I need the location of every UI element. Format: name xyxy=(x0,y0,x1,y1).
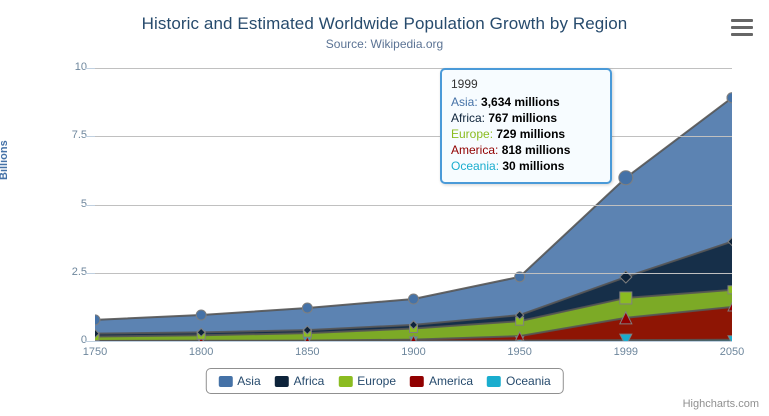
hamburger-bar-3 xyxy=(731,33,753,36)
gridline xyxy=(95,205,732,206)
legend-swatch-asia xyxy=(218,376,232,387)
tooltip-series-value: 30 millions xyxy=(502,159,564,173)
tooltip-series-value: 3,634 millions xyxy=(481,95,560,109)
data-point-europe[interactable] xyxy=(728,286,732,294)
legend-item-oceania[interactable]: Oceania xyxy=(487,374,551,388)
x-axis-tick-label: 1950 xyxy=(485,346,555,358)
credits-label[interactable]: Highcharts.com xyxy=(683,398,759,410)
x-axis-tick-label: 1800 xyxy=(166,346,236,358)
tooltip-row: Oceania: 30 millions xyxy=(451,158,601,174)
tooltip: 1999 Asia: 3,634 millionsAfrica: 767 mil… xyxy=(440,68,612,184)
tooltip-series-name: Oceania: xyxy=(451,159,502,173)
tooltip-series-name: America: xyxy=(451,143,502,157)
legend-swatch-africa xyxy=(275,376,289,387)
hamburger-bar-1 xyxy=(731,19,753,22)
tooltip-series-name: Africa: xyxy=(451,111,488,125)
y-axis-tick-label: 2.5 xyxy=(27,266,87,278)
tooltip-series-name: Europe: xyxy=(451,127,496,141)
tooltip-series-value: 818 millions xyxy=(502,143,571,157)
legend-label: Europe xyxy=(357,374,396,388)
x-axis-tick-label: 1850 xyxy=(272,346,342,358)
legend: AsiaAfricaEuropeAmericaOceania xyxy=(205,368,563,394)
x-axis-line xyxy=(95,341,732,342)
hamburger-bar-2 xyxy=(731,26,753,29)
tooltip-header: 1999 xyxy=(451,77,601,91)
data-point-asia[interactable] xyxy=(619,171,633,185)
legend-label: Africa xyxy=(294,374,325,388)
legend-label: Asia xyxy=(237,374,260,388)
page-title: Historic and Estimated Worldwide Populat… xyxy=(0,14,769,34)
y-axis-tick-mark xyxy=(85,205,95,206)
gridline xyxy=(95,68,732,69)
tooltip-series-name: Asia: xyxy=(451,95,481,109)
legend-label: America xyxy=(429,374,473,388)
y-axis-tick-mark xyxy=(85,273,95,274)
x-axis-tick-label: 1750 xyxy=(60,346,130,358)
gridline xyxy=(95,273,732,274)
x-axis-tick-label: 1999 xyxy=(591,346,661,358)
gridline xyxy=(95,136,732,137)
hamburger-icon[interactable] xyxy=(729,16,755,38)
legend-item-asia[interactable]: Asia xyxy=(218,374,260,388)
y-axis-tick-mark xyxy=(85,68,95,69)
tooltip-row: America: 818 millions xyxy=(451,142,601,158)
legend-label: Oceania xyxy=(506,374,551,388)
y-axis-title: Billions xyxy=(0,140,10,180)
data-point-asia[interactable] xyxy=(409,294,419,304)
y-axis-tick-label: 7.5 xyxy=(27,129,87,141)
tooltip-row: Africa: 767 millions xyxy=(451,110,601,126)
y-axis-tick-label: 10 xyxy=(27,61,87,73)
tooltip-row: Asia: 3,634 millions xyxy=(451,94,601,110)
legend-swatch-europe xyxy=(338,376,352,387)
data-point-asia[interactable] xyxy=(196,310,206,320)
legend-item-africa[interactable]: Africa xyxy=(275,374,325,388)
x-axis-tick-label: 2050 xyxy=(697,346,767,358)
plot-area xyxy=(95,68,732,341)
tooltip-series-value: 767 millions xyxy=(488,111,557,125)
chart-subtitle: Source: Wikipedia.org xyxy=(0,37,769,51)
tooltip-series-value: 729 millions xyxy=(496,127,565,141)
y-axis-tick-mark xyxy=(85,341,95,342)
data-point-europe[interactable] xyxy=(620,292,632,304)
y-axis-tick-label: 0 xyxy=(27,334,87,346)
legend-item-america[interactable]: America xyxy=(410,374,473,388)
legend-swatch-oceania xyxy=(487,376,501,387)
y-axis-tick-label: 5 xyxy=(27,198,87,210)
tooltip-rows: Asia: 3,634 millionsAfrica: 767 millions… xyxy=(451,94,601,174)
legend-item-europe[interactable]: Europe xyxy=(338,374,396,388)
legend-swatch-america xyxy=(410,376,424,387)
highcharts-container: Historic and Estimated Worldwide Populat… xyxy=(0,0,769,416)
data-point-asia[interactable] xyxy=(302,303,312,313)
x-axis-tick-label: 1900 xyxy=(379,346,449,358)
y-axis-tick-mark xyxy=(85,136,95,137)
tooltip-row: Europe: 729 millions xyxy=(451,126,601,142)
